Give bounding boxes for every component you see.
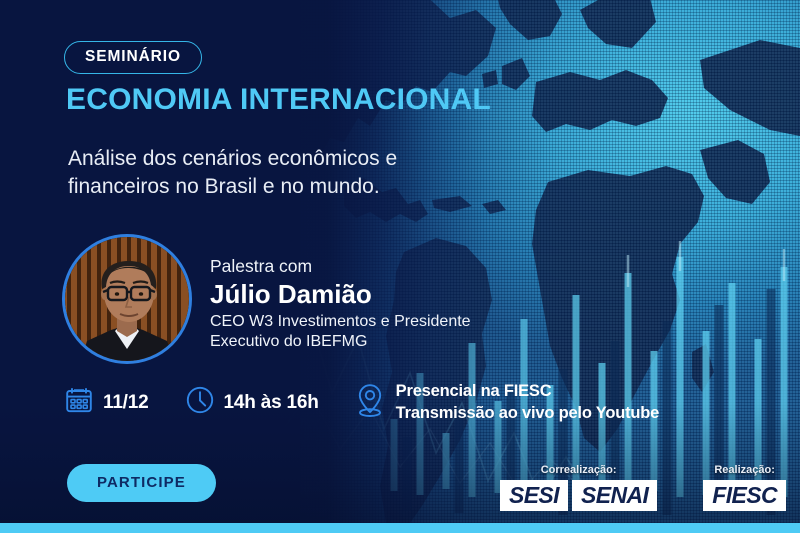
- event-time: 14h às 16h: [224, 392, 319, 414]
- subtitle: Análise dos cenários econômicos e financ…: [68, 145, 488, 200]
- event-info-row: 11/12 14h às 16h: [64, 381, 659, 424]
- sesi-logo: SESI: [500, 480, 568, 511]
- co-realization-label: Correalização:: [541, 465, 617, 476]
- realization-logo-row: FIESC: [703, 480, 786, 511]
- banner-content: SEMINÁRIO ECONOMIA INTERNACIONAL Análise…: [0, 0, 800, 533]
- info-item-time: 14h às 16h: [185, 385, 319, 420]
- speaker-name: Júlio Damião: [210, 279, 471, 310]
- speaker-role: CEO W3 Investimentos e Presidente Execut…: [210, 312, 471, 352]
- realization-group: Realização: FIESC: [703, 465, 786, 511]
- clock-icon: [185, 385, 215, 420]
- event-date: 11/12: [103, 392, 149, 414]
- info-item-location: Presencial na FIESC Transmissão ao vivo …: [353, 381, 659, 424]
- avatar: [62, 234, 192, 364]
- fiesc-logo: FIESC: [703, 480, 786, 511]
- co-realization-logo-row: SESI SENAI: [500, 480, 657, 511]
- co-realization-group: Correalização: SESI SENAI: [500, 465, 657, 511]
- speaker-details: Palestra com Júlio Damião CEO W3 Investi…: [210, 234, 471, 352]
- page-title: ECONOMIA INTERNACIONAL: [66, 84, 491, 116]
- realization-label: Realização:: [714, 465, 775, 476]
- speaker-lead-label: Palestra com: [210, 256, 471, 278]
- location-pin-icon: [353, 381, 387, 424]
- seminar-badge: SEMINÁRIO: [64, 41, 202, 74]
- calendar-icon: [64, 385, 94, 420]
- senai-logo: SENAI: [572, 480, 657, 511]
- event-location: Presencial na FIESC Transmissão ao vivo …: [396, 381, 659, 423]
- info-item-date: 11/12: [64, 385, 149, 420]
- sponsor-logos: Correalização: SESI SENAI Realização: FI…: [500, 465, 786, 511]
- participate-button[interactable]: PARTICIPE: [67, 464, 216, 502]
- event-banner: SEMINÁRIO ECONOMIA INTERNACIONAL Análise…: [0, 0, 800, 533]
- speaker-block: Palestra com Júlio Damião CEO W3 Investi…: [62, 234, 471, 364]
